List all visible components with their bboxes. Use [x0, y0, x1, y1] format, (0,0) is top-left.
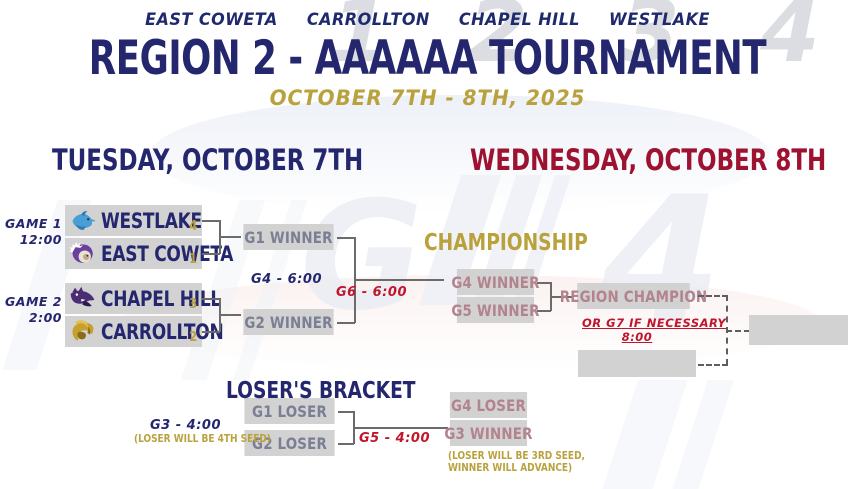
game1-time-tag: GAME 1 12:00	[4, 216, 62, 249]
game2-time-tag: GAME 2 2:00	[4, 294, 62, 327]
if-necessary-label: OR G7 IF NECESSARY 8:00	[582, 316, 692, 345]
game2-time: 2:00	[4, 310, 62, 326]
team-name-strip: EAST COWETA CARROLLTON CHAPEL HILL WESTL…	[13, 10, 842, 29]
g5-seed-note-line1: (LOSER WILL BE 3RD SEED,	[448, 450, 585, 462]
slot-champion-rematch-empty[interactable]	[578, 350, 696, 377]
connector-g1-bottom	[202, 253, 220, 255]
slot-g4-winner-label: G4 WINNER	[451, 273, 539, 292]
slot-g1-loser-label: G1 LOSER	[252, 402, 327, 421]
team-slot-east-coweta[interactable]: EAST COWETA 1	[65, 238, 202, 269]
connector-g2-out	[219, 314, 241, 316]
connector-g1-out	[219, 236, 241, 238]
slot-g4-loser[interactable]: G4 LOSER	[450, 392, 527, 418]
slot-g3-winner[interactable]: G3 WINNER	[450, 420, 527, 446]
connector-g4-bottom	[337, 322, 355, 324]
slot-g2-winner-label: G2 WINNER	[244, 313, 332, 332]
team-seed-chapel-hill: 3	[189, 297, 197, 312]
page-header: EAST COWETA CARROLLTON CHAPEL HILL WESTL…	[0, 0, 855, 110]
team-slot-carrollton[interactable]: CARROLLTON 2	[65, 316, 202, 347]
header-team-east-coweta: EAST COWETA	[145, 10, 278, 29]
team-slot-westlake[interactable]: WESTLAKE 4	[65, 205, 202, 236]
connector-champ-bottom	[537, 310, 551, 312]
slot-g1-winner-label: G1 WINNER	[244, 228, 332, 247]
g3-time-label: G3 - 4:00	[150, 418, 221, 434]
day-header-tuesday: TUESDAY, OCTOBER 7TH	[52, 146, 363, 175]
slot-g3-winner-label: G3 WINNER	[444, 424, 532, 443]
slot-g4-loser-label: G4 LOSER	[451, 396, 526, 415]
connector-g1-top	[202, 220, 220, 222]
connector-g2-bottom	[202, 331, 220, 333]
game2-label: GAME 2	[4, 294, 62, 310]
tournament-bracket-graphic: 1 2 3 4 4 G EAST COWETA CARROLLTON CHAPE…	[0, 0, 855, 489]
dashed-connector-bottom	[698, 364, 728, 366]
dashed-connector-out	[726, 330, 750, 332]
g5-seed-note: (LOSER WILL BE 3RD SEED, WINNER WILL ADV…	[448, 450, 585, 474]
indian-headdress-logo	[69, 241, 97, 267]
if-necessary-line2: 8:00	[582, 330, 692, 344]
header-team-chapel-hill: CHAPEL HILL	[459, 10, 580, 29]
g4-time-label: G4 - 6:00	[251, 272, 322, 288]
connector-g4-top	[337, 237, 355, 239]
team-seed-carrollton: 2	[189, 330, 197, 345]
g3-seed-note: (LOSER WILL BE 4TH SEED)	[134, 433, 271, 445]
team-slot-chapel-hill[interactable]: CHAPEL HILL 3	[65, 283, 202, 314]
g3-seed-note-text: (LOSER WILL BE 4TH SEED)	[134, 433, 271, 445]
connector-g3-bottom	[338, 443, 354, 445]
slot-g1-winner[interactable]: G1 WINNER	[243, 224, 333, 250]
page-title: REGION 2 - AAAAAA TOURNAMENT	[68, 35, 786, 82]
header-team-carrollton: CARROLLTON	[307, 10, 430, 29]
connector-g3-out	[353, 427, 448, 429]
trojan-helmet-logo	[69, 319, 97, 345]
connector-g3-top	[338, 411, 354, 413]
slot-region-champion[interactable]: REGION CHAMPION	[577, 283, 690, 309]
day-header-wednesday: WEDNESDAY, OCTOBER 8TH	[470, 146, 826, 175]
team-seed-westlake: 4	[189, 219, 197, 234]
team-name-westlake: WESTLAKE	[101, 209, 202, 233]
header-team-westlake: WESTLAKE	[609, 10, 710, 29]
slot-final-champion-empty[interactable]	[749, 315, 848, 345]
page-subtitle: OCTOBER 7TH - 8TH, 2025	[21, 86, 833, 110]
connector-champ-top	[537, 282, 551, 284]
championship-title: CHAMPIONSHIP	[424, 232, 588, 255]
panther-logo	[69, 286, 97, 312]
if-necessary-line1: OR G7 IF NECESSARY	[582, 316, 692, 330]
slot-g4-winner[interactable]: G4 WINNER	[457, 269, 534, 295]
g6-time-label: G6 - 6:00	[336, 285, 407, 301]
g5-seed-note-line2: WINNER WILL ADVANCE)	[448, 462, 585, 474]
team-seed-east-coweta: 1	[189, 252, 197, 267]
lion-logo	[69, 208, 97, 234]
losers-bracket-title: LOSER'S BRACKET	[226, 380, 416, 403]
connector-g2-top	[202, 298, 220, 300]
dashed-connector-top	[698, 295, 728, 297]
connector-g4-out	[354, 279, 444, 281]
slot-g5-winner[interactable]: G5 WINNER	[457, 297, 534, 323]
game1-time: 12:00	[4, 232, 62, 248]
slot-region-champion-label: REGION CHAMPION	[560, 287, 708, 306]
game1-label: GAME 1	[4, 216, 62, 232]
slot-g2-winner[interactable]: G2 WINNER	[243, 309, 333, 335]
g5-time-label: G5 - 4:00	[359, 431, 430, 447]
slot-g5-winner-label: G5 WINNER	[451, 301, 539, 320]
